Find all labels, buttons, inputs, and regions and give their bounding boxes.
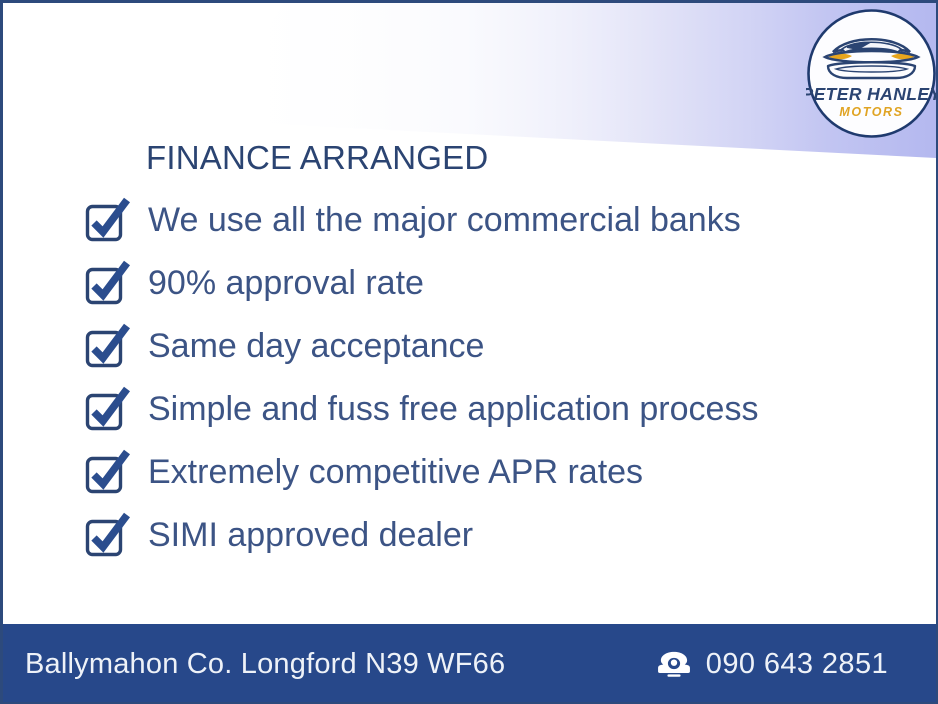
list-item: We use all the major commercial banks bbox=[83, 188, 913, 251]
list-item: SIMI approved dealer bbox=[83, 503, 913, 566]
list-item: Simple and fuss free application process bbox=[83, 377, 913, 440]
phone-block: 090 643 2851 bbox=[655, 648, 910, 681]
finance-arranged-poster: PETER HANLEY MOTORS FINANCE ARRANGED We … bbox=[0, 0, 938, 704]
checkbox-checked-icon bbox=[83, 196, 131, 244]
checkbox-checked-icon bbox=[83, 511, 131, 559]
checkbox-checked-icon bbox=[83, 259, 131, 307]
list-item-label: SIMI approved dealer bbox=[148, 518, 473, 552]
list-item: 90% approval rate bbox=[83, 251, 913, 314]
phone-number: 090 643 2851 bbox=[706, 648, 888, 681]
checkbox-checked-icon bbox=[83, 322, 131, 370]
telephone-icon bbox=[655, 649, 693, 679]
contact-footer: Ballymahon Co. Longford N39 WF66 090 643… bbox=[0, 624, 938, 704]
checkbox-checked-icon bbox=[83, 448, 131, 496]
list-item: Extremely competitive APR rates bbox=[83, 440, 913, 503]
list-item-label: Extremely competitive APR rates bbox=[148, 455, 643, 489]
page-title: FINANCE ARRANGED bbox=[146, 139, 488, 177]
checkbox-checked-icon bbox=[83, 385, 131, 433]
address-text: Ballymahon Co. Longford N39 WF66 bbox=[25, 648, 505, 681]
peter-hanley-motors-logo: PETER HANLEY MOTORS bbox=[806, 8, 937, 139]
logo-name-bottom: MOTORS bbox=[839, 105, 903, 119]
list-item-label: 90% approval rate bbox=[148, 266, 424, 300]
logo-name-top: PETER HANLEY bbox=[806, 84, 937, 104]
benefits-list: We use all the major commercial banks 90… bbox=[83, 188, 913, 566]
list-item-label: We use all the major commercial banks bbox=[148, 203, 741, 237]
list-item-label: Same day acceptance bbox=[148, 329, 484, 363]
list-item: Same day acceptance bbox=[83, 314, 913, 377]
list-item-label: Simple and fuss free application process bbox=[148, 392, 758, 426]
